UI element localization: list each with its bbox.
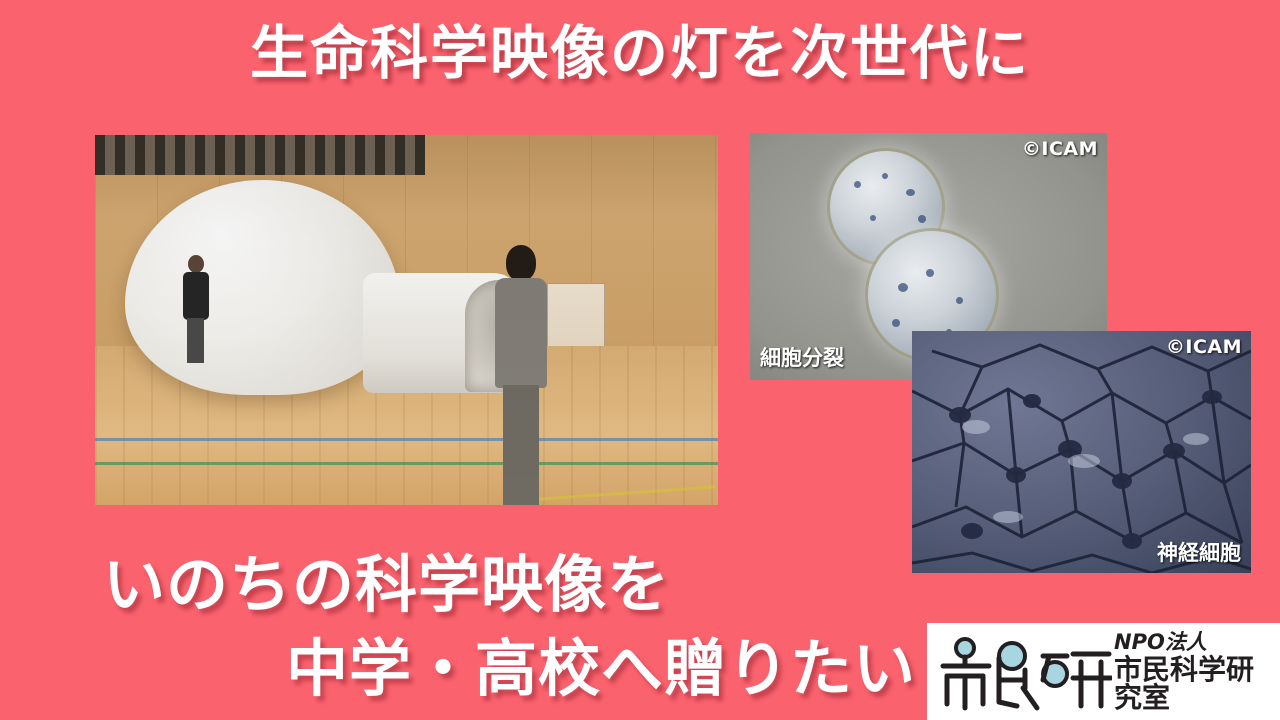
cell-photo-credit: ©ICAM — [1022, 138, 1098, 160]
npo-label: NPO法人 — [1114, 632, 1280, 653]
logo-text-block: NPO法人 市民科学研究室 — [1114, 632, 1280, 712]
presenter-head — [188, 255, 204, 273]
student-seated — [103, 403, 145, 463]
student-seated — [305, 367, 347, 427]
cell-granule — [892, 319, 900, 327]
subheadline-line-2: 中学・高校へ贈りたい — [286, 618, 916, 708]
teacher-person — [495, 245, 547, 505]
shimin-ken-logomark-icon — [937, 632, 1112, 712]
floor-line-green — [95, 462, 718, 465]
cell-granule — [918, 215, 926, 223]
cell-granule — [870, 215, 876, 221]
page-title: 生命科学映像の灯を次世代に — [0, 20, 1280, 87]
organization-name: 市民科学研究室 — [1114, 656, 1280, 712]
student-seated — [451, 367, 493, 427]
student-seated — [153, 397, 195, 457]
cell-granule — [956, 297, 963, 304]
presenter-legs — [187, 318, 204, 363]
student-seated — [227, 411, 269, 471]
teacher-legs — [503, 385, 539, 505]
cell-granule — [898, 283, 908, 292]
student-seated — [553, 387, 595, 447]
gymnasium-dome-screening-photo — [95, 135, 718, 505]
gym-window — [95, 135, 425, 175]
presenter-person — [183, 255, 209, 363]
neuron-photo-caption: 神経細胞 — [1157, 537, 1241, 567]
cell-granule — [882, 173, 888, 179]
presenter-body — [183, 272, 209, 320]
neuron-photo: ©ICAM 神経細胞 — [912, 331, 1251, 573]
cell-granule — [926, 269, 934, 277]
poster-canvas: 生命科学映像の灯を次世代に — [0, 0, 1280, 720]
organization-logo: NPO法人 市民科学研究室 — [927, 623, 1280, 720]
student-seated — [671, 411, 713, 471]
cell-granule — [906, 189, 915, 196]
student-seated — [395, 361, 437, 421]
teacher-body — [495, 278, 547, 388]
cell-photo-caption: 細胞分裂 — [760, 342, 844, 372]
cell-granule — [854, 181, 861, 188]
neuron-photo-credit: ©ICAM — [1166, 336, 1242, 358]
subheadline-line-1: いのちの科学映像を — [103, 534, 670, 624]
teacher-head — [506, 245, 536, 281]
